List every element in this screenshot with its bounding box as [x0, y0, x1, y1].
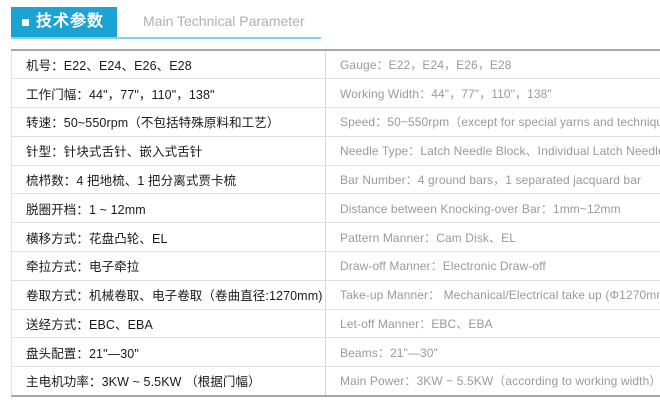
section-title-badge: 技术参数: [11, 7, 117, 37]
header-underline: [11, 37, 321, 39]
spec-label-cn: 送经方式：EBC、EBA: [12, 309, 326, 338]
table-row: 梳栉数：4 把地梳、1 把分离式贾卡梳 Bar Number：4 ground …: [12, 165, 660, 194]
table-row: 横移方式：花盘凸轮、EL Pattern Manner：Cam Disk、EL: [12, 223, 660, 252]
table-row: 脱圈开档：1 ~ 12mm Distance between Knocking-…: [12, 194, 660, 223]
spec-label-en: Draw-off Manner：Electronic Draw-off: [326, 252, 660, 281]
spec-label-cn: 牵拉方式：电子牵拉: [12, 252, 326, 281]
section-header: 技术参数 Main Technical Parameter: [0, 0, 660, 48]
table-body: 机号：E22、E24、E26、E28 Gauge：E22，E24，E26，E28…: [12, 50, 660, 396]
spec-sheet-page: 技术参数 Main Technical Parameter 机号：E22、E24…: [0, 0, 660, 401]
spec-label-en: Let-off Manner：EBC、EBA: [326, 309, 660, 338]
spec-label-cn: 横移方式：花盘凸轮、EL: [12, 223, 326, 252]
table-row: 盘头配置：21"—30" Beams：21"—30": [12, 338, 660, 367]
spec-label-cn: 针型：针块式舌针、嵌入式舌针: [12, 136, 326, 165]
spec-label-en: Working Width：44"，77"，110"，138": [326, 79, 660, 108]
spec-label-en: Gauge：E22，E24，E26，E28: [326, 50, 660, 79]
spec-label-en: Pattern Manner：Cam Disk、EL: [326, 223, 660, 252]
spec-label-en: Take-up Manner： Mechanical/Electrical ta…: [326, 280, 660, 309]
spec-label-cn: 脱圈开档：1 ~ 12mm: [12, 194, 326, 223]
table-row: 针型：针块式舌针、嵌入式舌针 Needle Type：Latch Needle …: [12, 136, 660, 165]
table-row: 机号：E22、E24、E26、E28 Gauge：E22，E24，E26，E28: [12, 50, 660, 79]
spec-label-en: Speed：50~550rpm（except for special yarns…: [326, 108, 660, 137]
spec-label-en: Main Power：3KW ~ 5.5KW（according to work…: [326, 367, 660, 396]
table-row: 工作门幅：44"，77"，110"，138" Working Width：44"…: [12, 79, 660, 108]
spec-label-cn: 盘头配置：21"—30": [12, 338, 326, 367]
technical-parameter-table: 机号：E22、E24、E26、E28 Gauge：E22，E24，E26，E28…: [11, 49, 660, 397]
spec-label-en: Needle Type：Latch Needle Block、Individua…: [326, 136, 660, 165]
square-bullet-icon: [22, 19, 29, 26]
table-row: 卷取方式：机械卷取、电子卷取（卷曲直径:1270mm) Take-up Mann…: [12, 280, 660, 309]
spec-label-cn: 转速：50~550rpm（不包括特殊原料和工艺）: [12, 108, 326, 137]
spec-label-cn: 卷取方式：机械卷取、电子卷取（卷曲直径:1270mm): [12, 280, 326, 309]
table-row: 主电机功率：3KW ~ 5.5KW （根据门幅） Main Power：3KW …: [12, 367, 660, 396]
spec-label-cn: 工作门幅：44"，77"，110"，138": [12, 79, 326, 108]
spec-label-cn: 主电机功率：3KW ~ 5.5KW （根据门幅）: [12, 367, 326, 396]
table-row: 送经方式：EBC、EBA Let-off Manner：EBC、EBA: [12, 309, 660, 338]
table-row: 转速：50~550rpm（不包括特殊原料和工艺） Speed：50~550rpm…: [12, 108, 660, 137]
spec-label-cn: 机号：E22、E24、E26、E28: [12, 50, 326, 79]
spec-label-en: Bar Number：4 ground bars，1 separated jac…: [326, 165, 660, 194]
section-title-en: Main Technical Parameter: [143, 14, 305, 28]
spec-label-cn: 梳栉数：4 把地梳、1 把分离式贾卡梳: [12, 165, 326, 194]
spec-label-en: Beams：21"—30": [326, 338, 660, 367]
section-title-cn: 技术参数: [36, 14, 104, 30]
spec-label-en: Distance between Knocking-over Bar：1mm~1…: [326, 194, 660, 223]
table-row: 牵拉方式：电子牵拉 Draw-off Manner：Electronic Dra…: [12, 252, 660, 281]
